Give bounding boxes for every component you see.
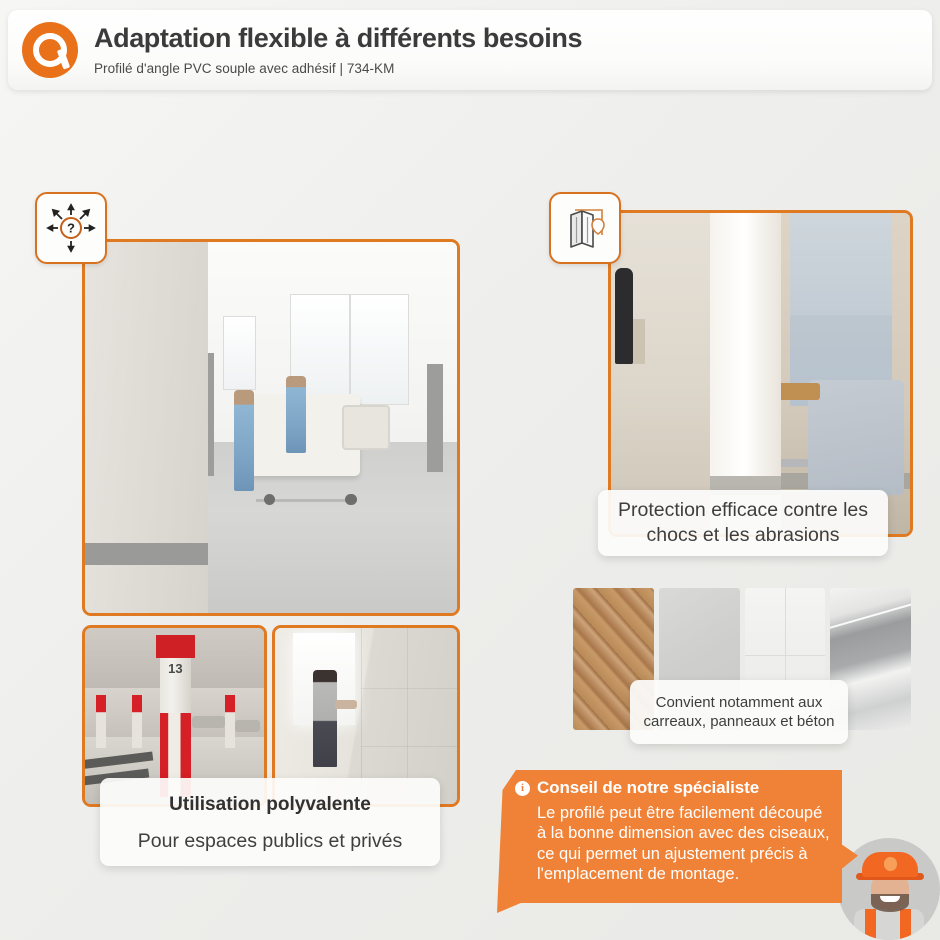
header-text-group: Adaptation flexible à différents besoins… bbox=[94, 24, 582, 76]
corner-profile-shield-icon bbox=[549, 192, 621, 264]
page-title: Adaptation flexible à différents besoins bbox=[94, 24, 582, 54]
expert-tip-body: Le profilé peut être facilement découpé … bbox=[537, 803, 835, 884]
parking-column-number: 13 bbox=[160, 661, 190, 676]
question-mark-arrows-icon: ? bbox=[35, 192, 107, 264]
parking-column: 13 bbox=[160, 635, 190, 797]
image-office-corner bbox=[608, 210, 913, 537]
caption-materials: Convient notamment aux carreaux, panneau… bbox=[630, 680, 848, 744]
expert-tip-title: Conseil de notre spécialiste bbox=[537, 778, 759, 798]
caption-usage: Utilisation polyvalente Pour espaces pub… bbox=[100, 778, 440, 866]
brand-q-logo-icon bbox=[22, 22, 78, 78]
page-subtitle: Profilé d'angle PVC souple avec adhésif … bbox=[94, 61, 582, 76]
info-icon: i bbox=[515, 781, 530, 796]
image-hospital-corridor bbox=[82, 239, 460, 616]
caption-usage-subtitle: Pour espaces publics et privés bbox=[100, 830, 440, 853]
caption-protection: Protection efficace contre les chocs et … bbox=[598, 490, 888, 556]
svg-text:?: ? bbox=[67, 221, 75, 236]
expert-tip-title-row: i Conseil de notre spécialiste bbox=[515, 778, 835, 798]
expert-tip-box: i Conseil de notre spécialiste Le profil… bbox=[497, 770, 842, 913]
header-bar: Adaptation flexible à différents besoins… bbox=[8, 10, 932, 90]
caption-usage-title: Utilisation polyvalente bbox=[100, 794, 440, 816]
